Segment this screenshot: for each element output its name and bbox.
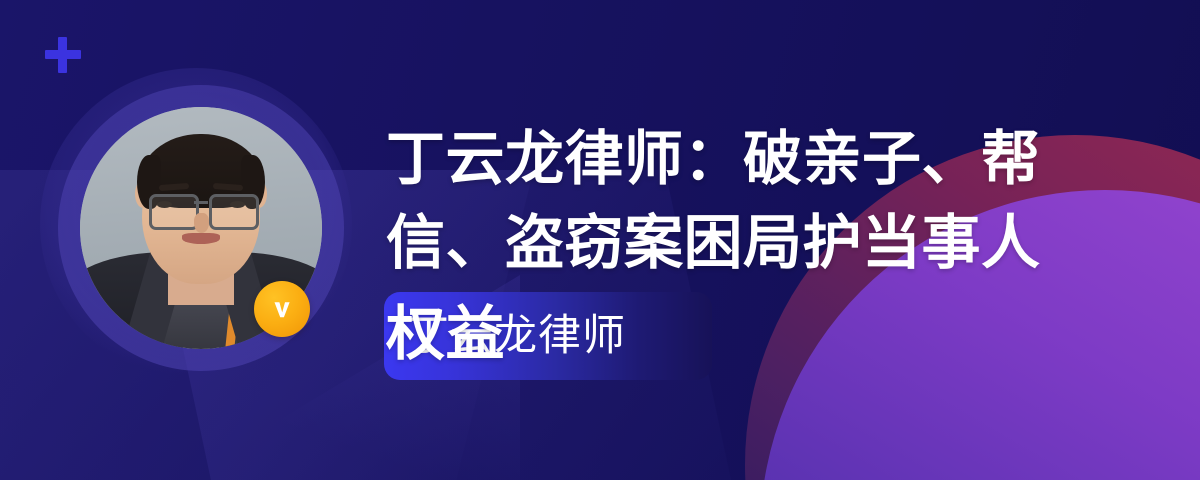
verified-v-icon (254, 281, 310, 337)
plus-icon (45, 37, 81, 73)
lawyer-profile-banner: 丁云龙律师：破亲子、帮 信、盗窃案困局护当事人 丁云龙律师 权益 (0, 0, 1200, 480)
headline-block: 丁云龙律师：破亲子、帮 信、盗窃案困局护当事人 (386, 118, 1146, 286)
page-title: 丁云龙律师：破亲子、帮 信、盗窃案困局护当事人 (386, 118, 1146, 286)
headline-line-3: 权益 (386, 293, 505, 377)
headline-line-1: 丁云龙律师：破亲子、帮 (386, 126, 1041, 192)
headline-line-2: 信、盗窃案困局护当事人 (386, 210, 1041, 276)
avatar[interactable] (58, 85, 344, 371)
